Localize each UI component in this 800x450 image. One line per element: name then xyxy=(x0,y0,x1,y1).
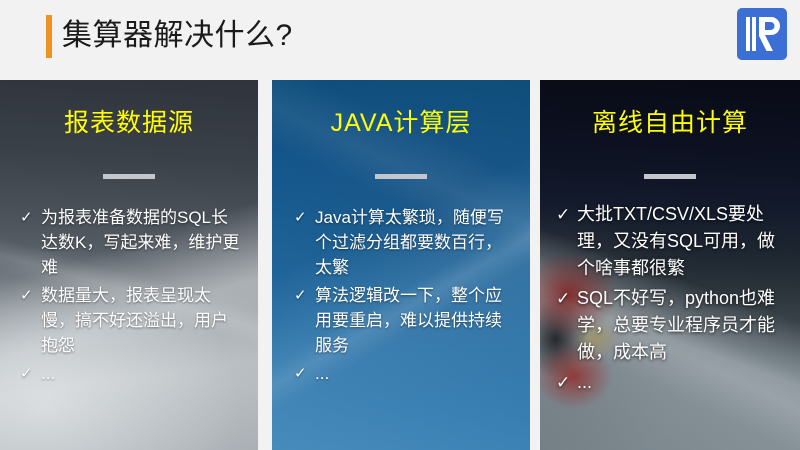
list-item: ✓ 数据量大，报表呈现太慢，搞不好还溢出，用户抱怨 xyxy=(20,283,244,358)
title-divider xyxy=(375,174,427,179)
panel-content: 离线自由计算 ✓ 大批TXT/CSV/XLS要处理，又没有SQL可用，做个啥事都… xyxy=(540,80,800,450)
bullet-list: ✓ Java计算太繁琐，随便写个过滤分组都要数百行，太繁 ✓ 算法逻辑改一下，整… xyxy=(282,205,520,386)
list-item: ✓ ... xyxy=(294,361,516,386)
list-item-label: 为报表准备数据的SQL长达数K，写起来难，维护更难 xyxy=(41,205,244,280)
list-item: ✓ 大批TXT/CSV/XLS要处理，又没有SQL可用，做个啥事都很繁 xyxy=(556,201,786,282)
check-icon: ✓ xyxy=(556,201,572,228)
check-icon: ✓ xyxy=(294,361,310,386)
check-icon: ✓ xyxy=(20,361,36,386)
panel-content: JAVA计算层 ✓ Java计算太繁琐，随便写个过滤分组都要数百行，太繁 ✓ 算… xyxy=(272,80,530,450)
check-icon: ✓ xyxy=(556,285,572,312)
list-item: ✓ SQL不好写，python也难学，总要专业程序员才能做，成本高 xyxy=(556,285,786,366)
panel-report-data-source[interactable]: 报表数据源 ✓ 为报表准备数据的SQL长达数K，写起来难，维护更难 ✓ 数据量大… xyxy=(0,80,258,450)
check-icon: ✓ xyxy=(20,205,36,230)
list-item: ✓ 算法逻辑改一下，整个应用要重启，难以提供持续服务 xyxy=(294,283,516,358)
list-item-label: 数据量大，报表呈现太慢，搞不好还溢出，用户抱怨 xyxy=(41,283,244,358)
check-icon: ✓ xyxy=(294,283,310,308)
title-divider xyxy=(644,174,696,179)
panel-content: 报表数据源 ✓ 为报表准备数据的SQL长达数K，写起来难，维护更难 ✓ 数据量大… xyxy=(0,80,258,450)
list-item-label: Java计算太繁琐，随便写个过滤分组都要数百行，太繁 xyxy=(315,205,516,280)
title-accent-bar xyxy=(46,15,52,58)
list-item-label: SQL不好写，python也难学，总要专业程序员才能做，成本高 xyxy=(577,285,786,366)
title-divider xyxy=(103,174,155,179)
check-icon: ✓ xyxy=(556,369,572,396)
list-item: ✓ ... xyxy=(556,369,786,396)
list-item: ✓ Java计算太繁琐，随便写个过滤分组都要数百行，太繁 xyxy=(294,205,516,280)
page-title: 集算器解决什么? xyxy=(62,13,293,59)
list-item: ✓ ... xyxy=(20,361,244,386)
list-item-label: ... xyxy=(315,361,516,386)
panel-offline-free-computing[interactable]: 离线自由计算 ✓ 大批TXT/CSV/XLS要处理，又没有SQL可用，做个啥事都… xyxy=(540,80,800,450)
panel-title: JAVA计算层 xyxy=(282,108,520,138)
list-item-label: ... xyxy=(577,369,786,396)
panel-java-compute-layer[interactable]: JAVA计算层 ✓ Java计算太繁琐，随便写个过滤分组都要数百行，太繁 ✓ 算… xyxy=(272,80,530,450)
raqsoft-logo-icon xyxy=(737,8,787,60)
list-item-label: 算法逻辑改一下，整个应用要重启，难以提供持续服务 xyxy=(315,283,516,358)
list-item-label: ... xyxy=(41,361,244,386)
bullet-list: ✓ 为报表准备数据的SQL长达数K，写起来难，维护更难 ✓ 数据量大，报表呈现太… xyxy=(10,205,248,386)
slide-header: 集算器解决什么? xyxy=(0,0,800,72)
slide: 集算器解决什么? 报表数据源 ✓ 为报表准备数据的SQL长达数K，写起来难，维护… xyxy=(0,0,800,450)
bullet-list: ✓ 大批TXT/CSV/XLS要处理，又没有SQL可用，做个啥事都很繁 ✓ SQ… xyxy=(550,201,790,396)
panel-title: 离线自由计算 xyxy=(550,108,790,138)
list-item-label: 大批TXT/CSV/XLS要处理，又没有SQL可用，做个啥事都很繁 xyxy=(577,201,786,282)
panel-title: 报表数据源 xyxy=(10,108,248,138)
check-icon: ✓ xyxy=(294,205,310,230)
list-item: ✓ 为报表准备数据的SQL长达数K，写起来难，维护更难 xyxy=(20,205,244,280)
check-icon: ✓ xyxy=(20,283,36,308)
